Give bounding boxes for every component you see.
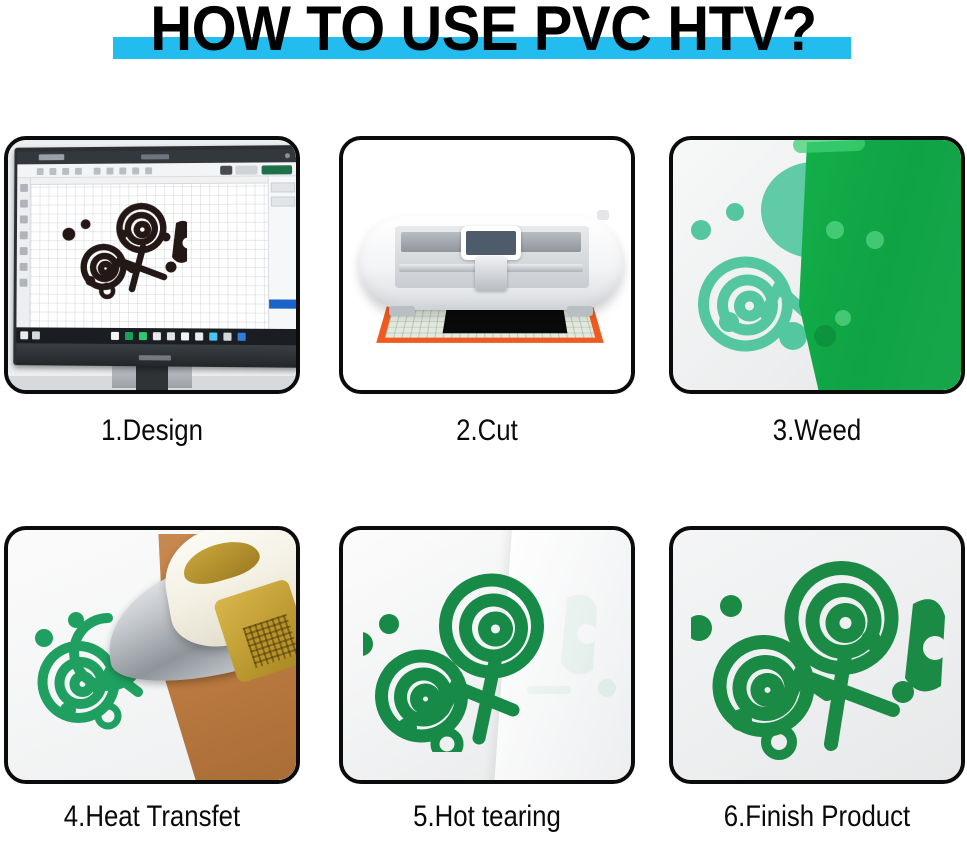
step-caption-heat-transfer: 4.Heat Transfet [25, 800, 280, 834]
sidebar-icon-projects[interactable] [20, 216, 28, 224]
steps-grid: 1.Design [0, 136, 967, 866]
toolbar-icon-1[interactable] [37, 168, 44, 175]
machine-screen-display [466, 231, 516, 255]
step-card-weed: 3.Weed [669, 136, 967, 526]
right-panel-row-1[interactable] [271, 182, 295, 192]
canvas-ruler [31, 176, 268, 184]
machine-touchscreen[interactable] [461, 226, 521, 260]
step-card-cut: 2.Cut [339, 136, 641, 526]
page-header: HOW TO USE PVC HTV? [0, 0, 967, 78]
toolbar-button-secondary[interactable] [235, 166, 257, 175]
tearing-artwork-green [363, 552, 553, 752]
taskbar-icon-explorer[interactable] [111, 332, 119, 340]
taskbar-icon-app-green[interactable] [125, 332, 133, 340]
steps-row-1: 1.Design [0, 136, 967, 526]
sidebar-icon-templates[interactable] [20, 200, 28, 208]
machine-knob[interactable] [597, 210, 609, 220]
monitor-brand-logo [139, 355, 171, 360]
step-caption-finish-product: 6.Finish Product [690, 800, 945, 834]
software-right-panel [268, 176, 296, 329]
step-caption-hot-tearing: 5.Hot tearing [360, 800, 615, 834]
toolbar-button-settings[interactable] [220, 166, 232, 175]
sidebar-icon-new[interactable] [20, 184, 28, 192]
taskbar-icon-app-blue2[interactable] [238, 333, 246, 341]
toolbar-icon-4[interactable] [75, 168, 82, 175]
taskbar-icon-app-gray2[interactable] [223, 333, 231, 341]
step-image-design [4, 136, 300, 394]
design-canvas[interactable] [30, 176, 268, 328]
step-card-finish-product: 6.Finish Product [669, 526, 967, 866]
step-image-hot-tearing [339, 526, 635, 784]
step-image-finish-product [669, 526, 965, 784]
sidebar-icon-images[interactable] [20, 231, 28, 239]
taskbar-icon-app-light2[interactable] [195, 332, 203, 340]
infographic-page: HOW TO USE PVC HTV? [0, 0, 967, 866]
sidebar-icon-upload[interactable] [20, 279, 28, 287]
taskbar-icon-app-gray[interactable] [167, 332, 175, 340]
weed-holes [803, 160, 953, 380]
machine-foot-left [389, 306, 415, 316]
taskbar-icon-app-green2[interactable] [139, 332, 147, 340]
toolbar-icon-8[interactable] [132, 167, 139, 174]
monitor-screen [16, 149, 296, 345]
right-panel-action-button[interactable] [269, 299, 296, 308]
machine-blade-carriage [475, 256, 507, 290]
toolbar-icon-9[interactable] [145, 167, 152, 174]
taskbar-icon-search[interactable] [32, 331, 40, 339]
monitor-icon [13, 145, 296, 368]
sidebar-icon-text[interactable] [20, 247, 28, 255]
step-caption-weed: 3.Weed [690, 414, 945, 448]
step-card-heat-transfer: 4.Heat Transfet [4, 526, 306, 866]
cutting-machine-icon [359, 216, 623, 310]
step-image-cut [339, 136, 635, 394]
canvas-artwork-lollipops [58, 191, 187, 311]
toolbar-icon-7[interactable] [119, 168, 126, 175]
toolbar-icon-3[interactable] [62, 168, 69, 175]
page-title: HOW TO USE PVC HTV? [39, 0, 929, 61]
monitor-bezel [16, 343, 296, 368]
toolbar-button-make-it[interactable] [262, 165, 293, 174]
step-card-hot-tearing: 5.Hot tearing [339, 526, 641, 866]
taskbar-icon-start[interactable] [20, 331, 28, 339]
step-image-weed [669, 136, 965, 394]
sidebar-icon-shapes[interactable] [20, 263, 28, 271]
toolbar-icon-6[interactable] [106, 168, 113, 175]
right-panel-row-2[interactable] [271, 196, 295, 206]
software-document-title [141, 154, 169, 159]
taskbar-icon-app-blue[interactable] [209, 333, 217, 341]
finish-artwork-green [691, 544, 951, 774]
software-left-sidebar [16, 178, 30, 327]
step-card-design: 1.Design [4, 136, 306, 526]
taskbar-icon-app-white[interactable] [153, 332, 161, 340]
taskbar-icon-app-light[interactable] [181, 332, 189, 340]
toolbar-icon-2[interactable] [49, 168, 56, 175]
toolbar-icon-5[interactable] [94, 168, 101, 175]
step-image-heat-transfer [4, 526, 300, 784]
software-menu-label [39, 154, 64, 160]
step-caption-design: 1.Design [25, 414, 280, 448]
close-icon[interactable] [285, 153, 290, 158]
steps-row-2: 4.Heat Transfet [0, 526, 967, 866]
machine-foot-right [567, 306, 593, 316]
step-caption-cut: 2.Cut [360, 414, 615, 448]
